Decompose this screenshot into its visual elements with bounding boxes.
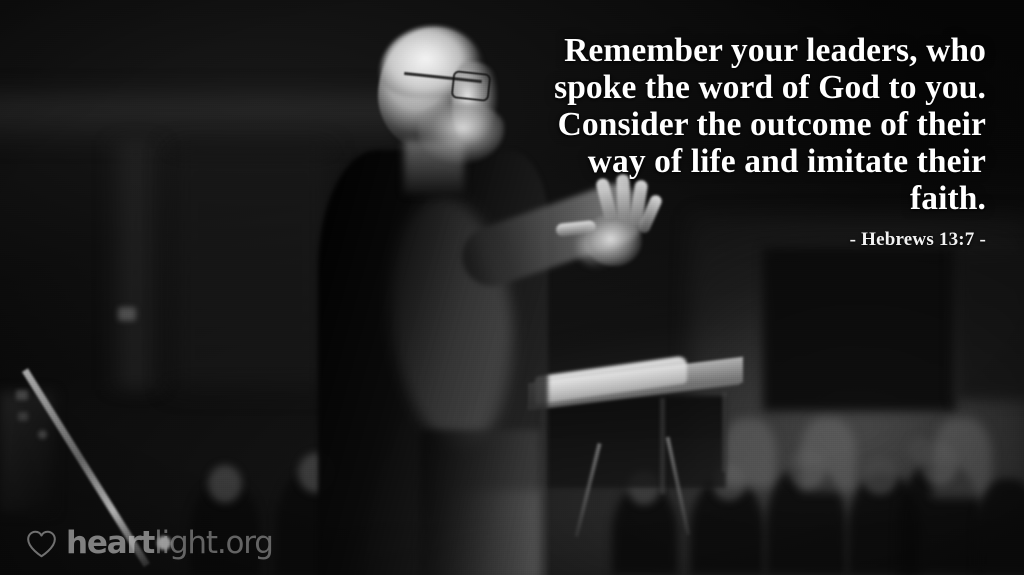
heartlight-wordmark: heartlight.org (66, 528, 273, 559)
verse-text: Remember your leaders, who spoke the wor… (526, 32, 986, 217)
scripture-image-canvas: Remember your leaders, who spoke the wor… (0, 0, 1024, 575)
verse-block: Remember your leaders, who spoke the wor… (526, 32, 986, 251)
heartlight-logo[interactable]: heartlight.org (26, 528, 273, 559)
logo-word-thin: light.org (154, 525, 273, 561)
logo-word-bold: heart (66, 525, 154, 561)
verse-reference: - Hebrews 13:7 - (526, 229, 986, 251)
heart-outline-icon (26, 530, 57, 558)
